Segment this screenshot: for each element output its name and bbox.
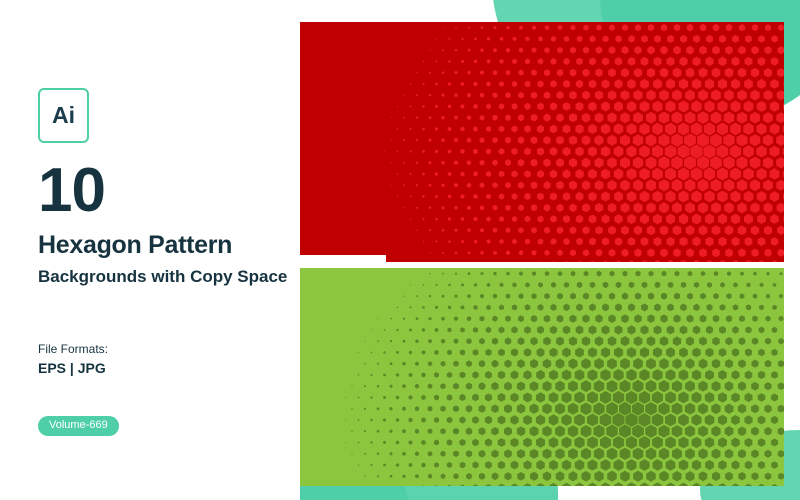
adobe-illustrator-badge: Ai [38,88,89,143]
poster-canvas: Ai 10 Hexagon Pattern Backgrounds with C… [0,0,800,500]
info-column: Ai 10 Hexagon Pattern Backgrounds with C… [38,0,300,500]
page-subtitle: Backgrounds with Copy Space [38,266,288,288]
adobe-illustrator-badge-label: Ai [52,104,75,127]
volume-badge: Volume-669 [38,416,119,436]
preview-gap-notch [300,255,386,269]
red-halftone-hexagon-icon [300,22,784,262]
green-halftone-hexagon-icon [300,268,784,486]
file-formats-label: File Formats: [38,343,108,355]
item-count: 10 [38,160,105,222]
page-title: Hexagon Pattern [38,233,232,258]
preview-red-hexagon-pattern [300,22,784,262]
preview-green-hexagon-pattern [300,268,784,486]
file-formats-value: EPS | JPG [38,361,106,375]
